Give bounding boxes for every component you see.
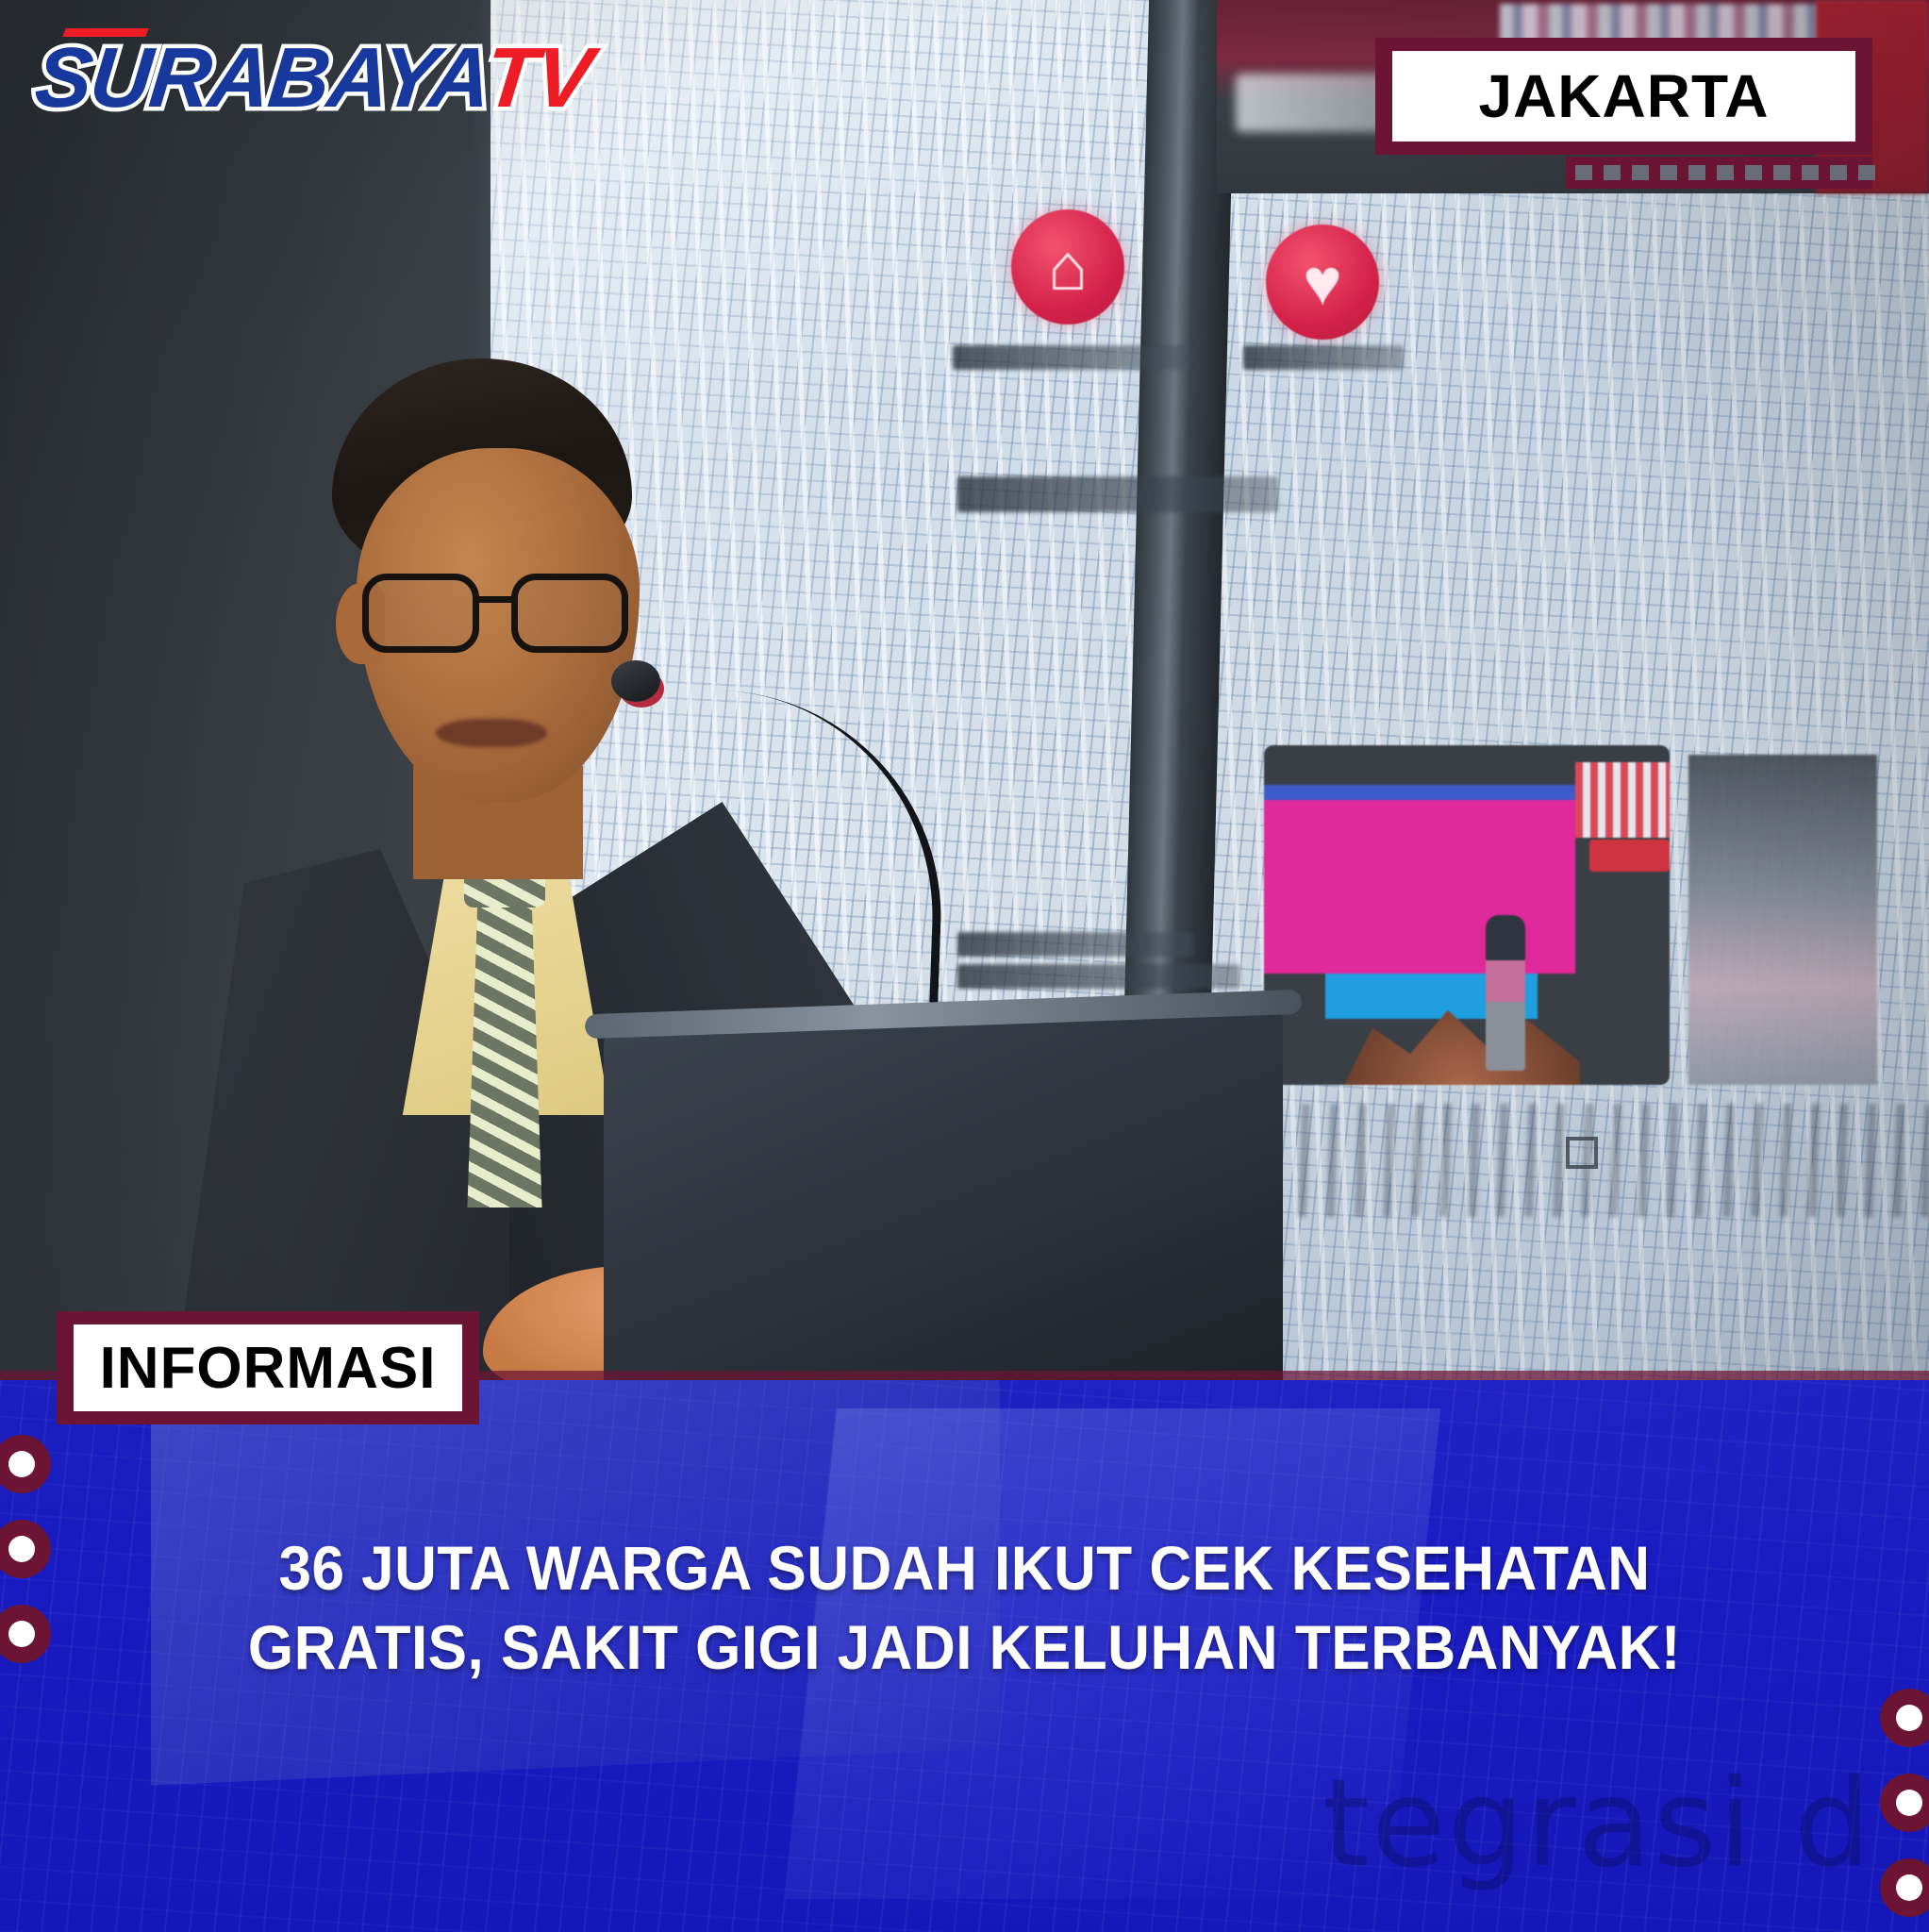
dash-segment xyxy=(1688,165,1705,180)
banner-background-text: tegrasi d xyxy=(1322,1754,1872,1894)
dash-segment xyxy=(1802,165,1819,180)
dash-segment xyxy=(1575,165,1592,180)
dash-segment xyxy=(1660,165,1677,180)
broadcast-frame: ⌂ ♥ xyxy=(0,0,1929,1932)
building-icon-glyph: ⌂ xyxy=(1011,209,1124,325)
channel-logo-accent xyxy=(62,28,149,37)
news-headline-line-2: GRATIS, SAKIT GIGI JADI KELUHAN TERBANYA… xyxy=(191,1607,1738,1687)
microphone-icon xyxy=(611,660,660,702)
news-headline: 36 JUTA WARGA SUDAH IKUT CEK KESEHATAN G… xyxy=(58,1528,1871,1688)
dash-segment xyxy=(1717,165,1734,180)
heart-care-icon-glyph: ♥ xyxy=(1266,225,1379,340)
news-headline-line-1: 36 JUTA WARGA SUDAH IKUT CEK KESEHATAN xyxy=(191,1528,1738,1607)
slide-photo-banner xyxy=(1575,762,1670,838)
decor-dot-core xyxy=(8,1536,36,1563)
dash-segment xyxy=(1773,165,1790,180)
dash-segment xyxy=(1830,165,1847,180)
decor-dot-core xyxy=(8,1621,36,1648)
category-badge: INFORMASI xyxy=(57,1311,479,1424)
slide-square-icon xyxy=(1566,1137,1598,1169)
eyeglasses xyxy=(362,574,645,657)
slide-photo-wall xyxy=(1264,785,1575,974)
decor-dot-core xyxy=(8,1451,36,1478)
slide-photo-person xyxy=(1486,915,1525,1071)
dash-segment xyxy=(1604,165,1621,180)
channel-logo-suffix: TV xyxy=(481,36,594,121)
eyeglass-bridge xyxy=(479,596,513,603)
channel-logo-name: SURABAYA xyxy=(31,36,493,121)
heart-care-icon: ♥ xyxy=(1266,225,1379,340)
dash-segment xyxy=(1858,165,1875,180)
location-badge-dash-strip xyxy=(1566,157,1872,189)
eyeglass-lens-right xyxy=(511,574,628,653)
eyeglass-lens-left xyxy=(362,574,479,653)
decor-dot-core xyxy=(1896,1790,1923,1817)
slide-photo-primary xyxy=(1264,745,1670,1085)
slide-caption-4 xyxy=(957,964,1240,989)
decor-dot-core xyxy=(1896,1874,1923,1902)
slide-caption-3 xyxy=(957,932,1193,957)
slide-photo-secondary xyxy=(1688,755,1877,1085)
category-badge-label: INFORMASI xyxy=(74,1324,462,1411)
building-icon: ⌂ xyxy=(1011,209,1124,325)
podium xyxy=(604,997,1283,1417)
dash-segment xyxy=(1745,165,1762,180)
location-badge: JAKARTA xyxy=(1375,38,1872,155)
decor-dot-core xyxy=(1896,1705,1923,1732)
mouth xyxy=(436,719,547,747)
slide-caption-2 xyxy=(1243,345,1404,370)
channel-logo: SURABAYATV xyxy=(31,36,594,121)
slide-caption-1 xyxy=(953,345,1189,370)
slide-heading xyxy=(957,476,1278,512)
dash-segment xyxy=(1632,165,1649,180)
slide-photo-sign xyxy=(1589,840,1670,872)
location-badge-label: JAKARTA xyxy=(1392,51,1855,142)
